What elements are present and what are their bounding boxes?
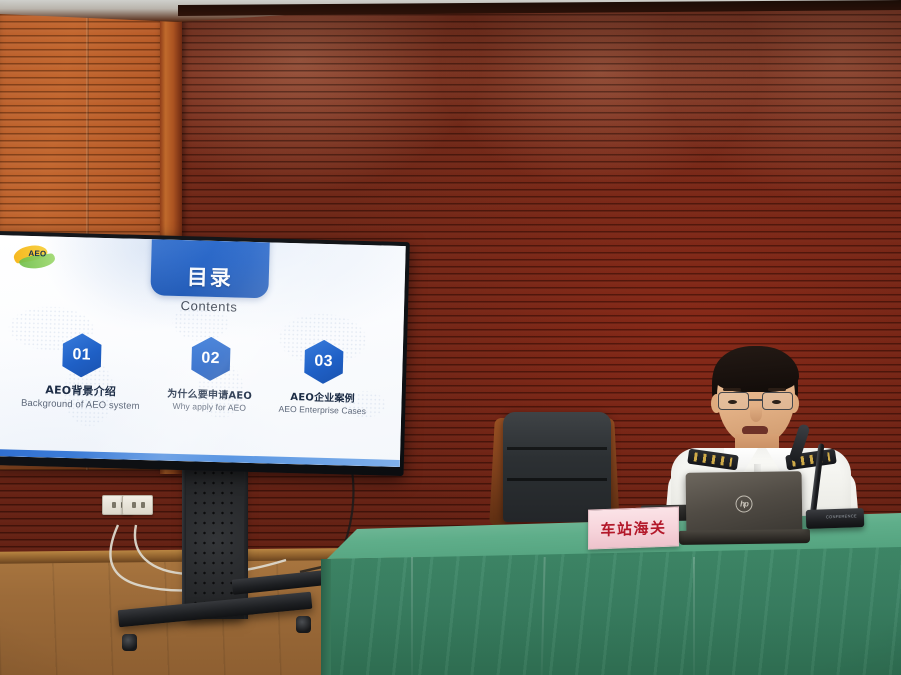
chair-seam <box>507 478 607 481</box>
item-title-en: AEO Enterprise Cases <box>263 403 381 416</box>
slide-title-cn: 目录 <box>150 260 269 293</box>
hexagon-wrap: 01 <box>10 331 153 379</box>
conference-room-photo: AEO 目录 Contents 01 <box>0 0 901 675</box>
desk-tablecloth-front <box>327 547 901 675</box>
contents-item-02: 02 为什么要申请AEO Why apply for AEO <box>147 335 273 413</box>
hexagon-badge-icon: 02 <box>191 336 231 381</box>
aeo-logo-text: AEO <box>28 249 46 258</box>
item-title-cn: AEO企业案例 <box>263 387 381 405</box>
nose <box>750 406 762 422</box>
glasses-bridge <box>749 399 762 401</box>
chair-seam <box>507 447 607 450</box>
tv-stand-perforated-panel <box>186 462 244 619</box>
microphone-base-label: CONFERENCE <box>826 513 857 519</box>
eyebrow-left <box>723 388 741 391</box>
laptop-base[interactable] <box>679 529 810 545</box>
hexagon-wrap: 02 <box>148 335 273 382</box>
eye-right <box>772 400 781 404</box>
hexagon-badge-icon: 01 <box>62 333 102 378</box>
item-number: 03 <box>314 352 333 370</box>
slide-title-banner: 目录 <box>150 235 270 298</box>
tv-bezel: AEO 目录 Contents 01 <box>0 231 410 476</box>
slide-title-en: Contents <box>150 297 268 315</box>
tv-screen[interactable]: AEO 目录 Contents 01 <box>0 235 406 467</box>
tablecloth-fold <box>411 557 413 675</box>
desk-nameplate: 车站海关 <box>588 506 679 549</box>
stand-caster <box>296 616 311 633</box>
contents-item-03: 03 AEO企业案例 AEO Enterprise Cases <box>263 338 383 416</box>
contents-item-01: 01 AEO背景介绍 Background of AEO system <box>9 331 153 412</box>
microphone-base[interactable]: CONFERENCE <box>806 508 865 529</box>
desk-tablecloth-side <box>321 559 331 675</box>
stand-caster <box>122 634 137 651</box>
executive-chair-backrest <box>503 412 611 522</box>
laptop-lid[interactable]: hp <box>686 471 803 535</box>
aeo-logo: AEO <box>13 243 62 270</box>
slide-contents-page: AEO 目录 Contents 01 <box>0 235 406 467</box>
tablecloth-fold <box>693 557 695 675</box>
eyebrow-right <box>768 388 786 391</box>
eye-left <box>728 400 737 404</box>
item-number: 02 <box>201 349 220 367</box>
hp-logo-icon: hp <box>735 496 752 513</box>
slide-contents-items: 01 AEO背景介绍 Background of AEO system 02 <box>0 331 403 462</box>
hair <box>713 346 799 392</box>
hexagon-badge-icon: 03 <box>303 339 343 384</box>
item-number: 01 <box>72 346 91 364</box>
hexagon-wrap: 03 <box>264 338 383 385</box>
presentation-display[interactable]: AEO 目录 Contents 01 <box>0 231 410 476</box>
item-title-en: Why apply for AEO <box>147 400 271 413</box>
nameplate-text: 车站海关 <box>601 516 667 539</box>
epaulette-insignia <box>694 452 733 466</box>
